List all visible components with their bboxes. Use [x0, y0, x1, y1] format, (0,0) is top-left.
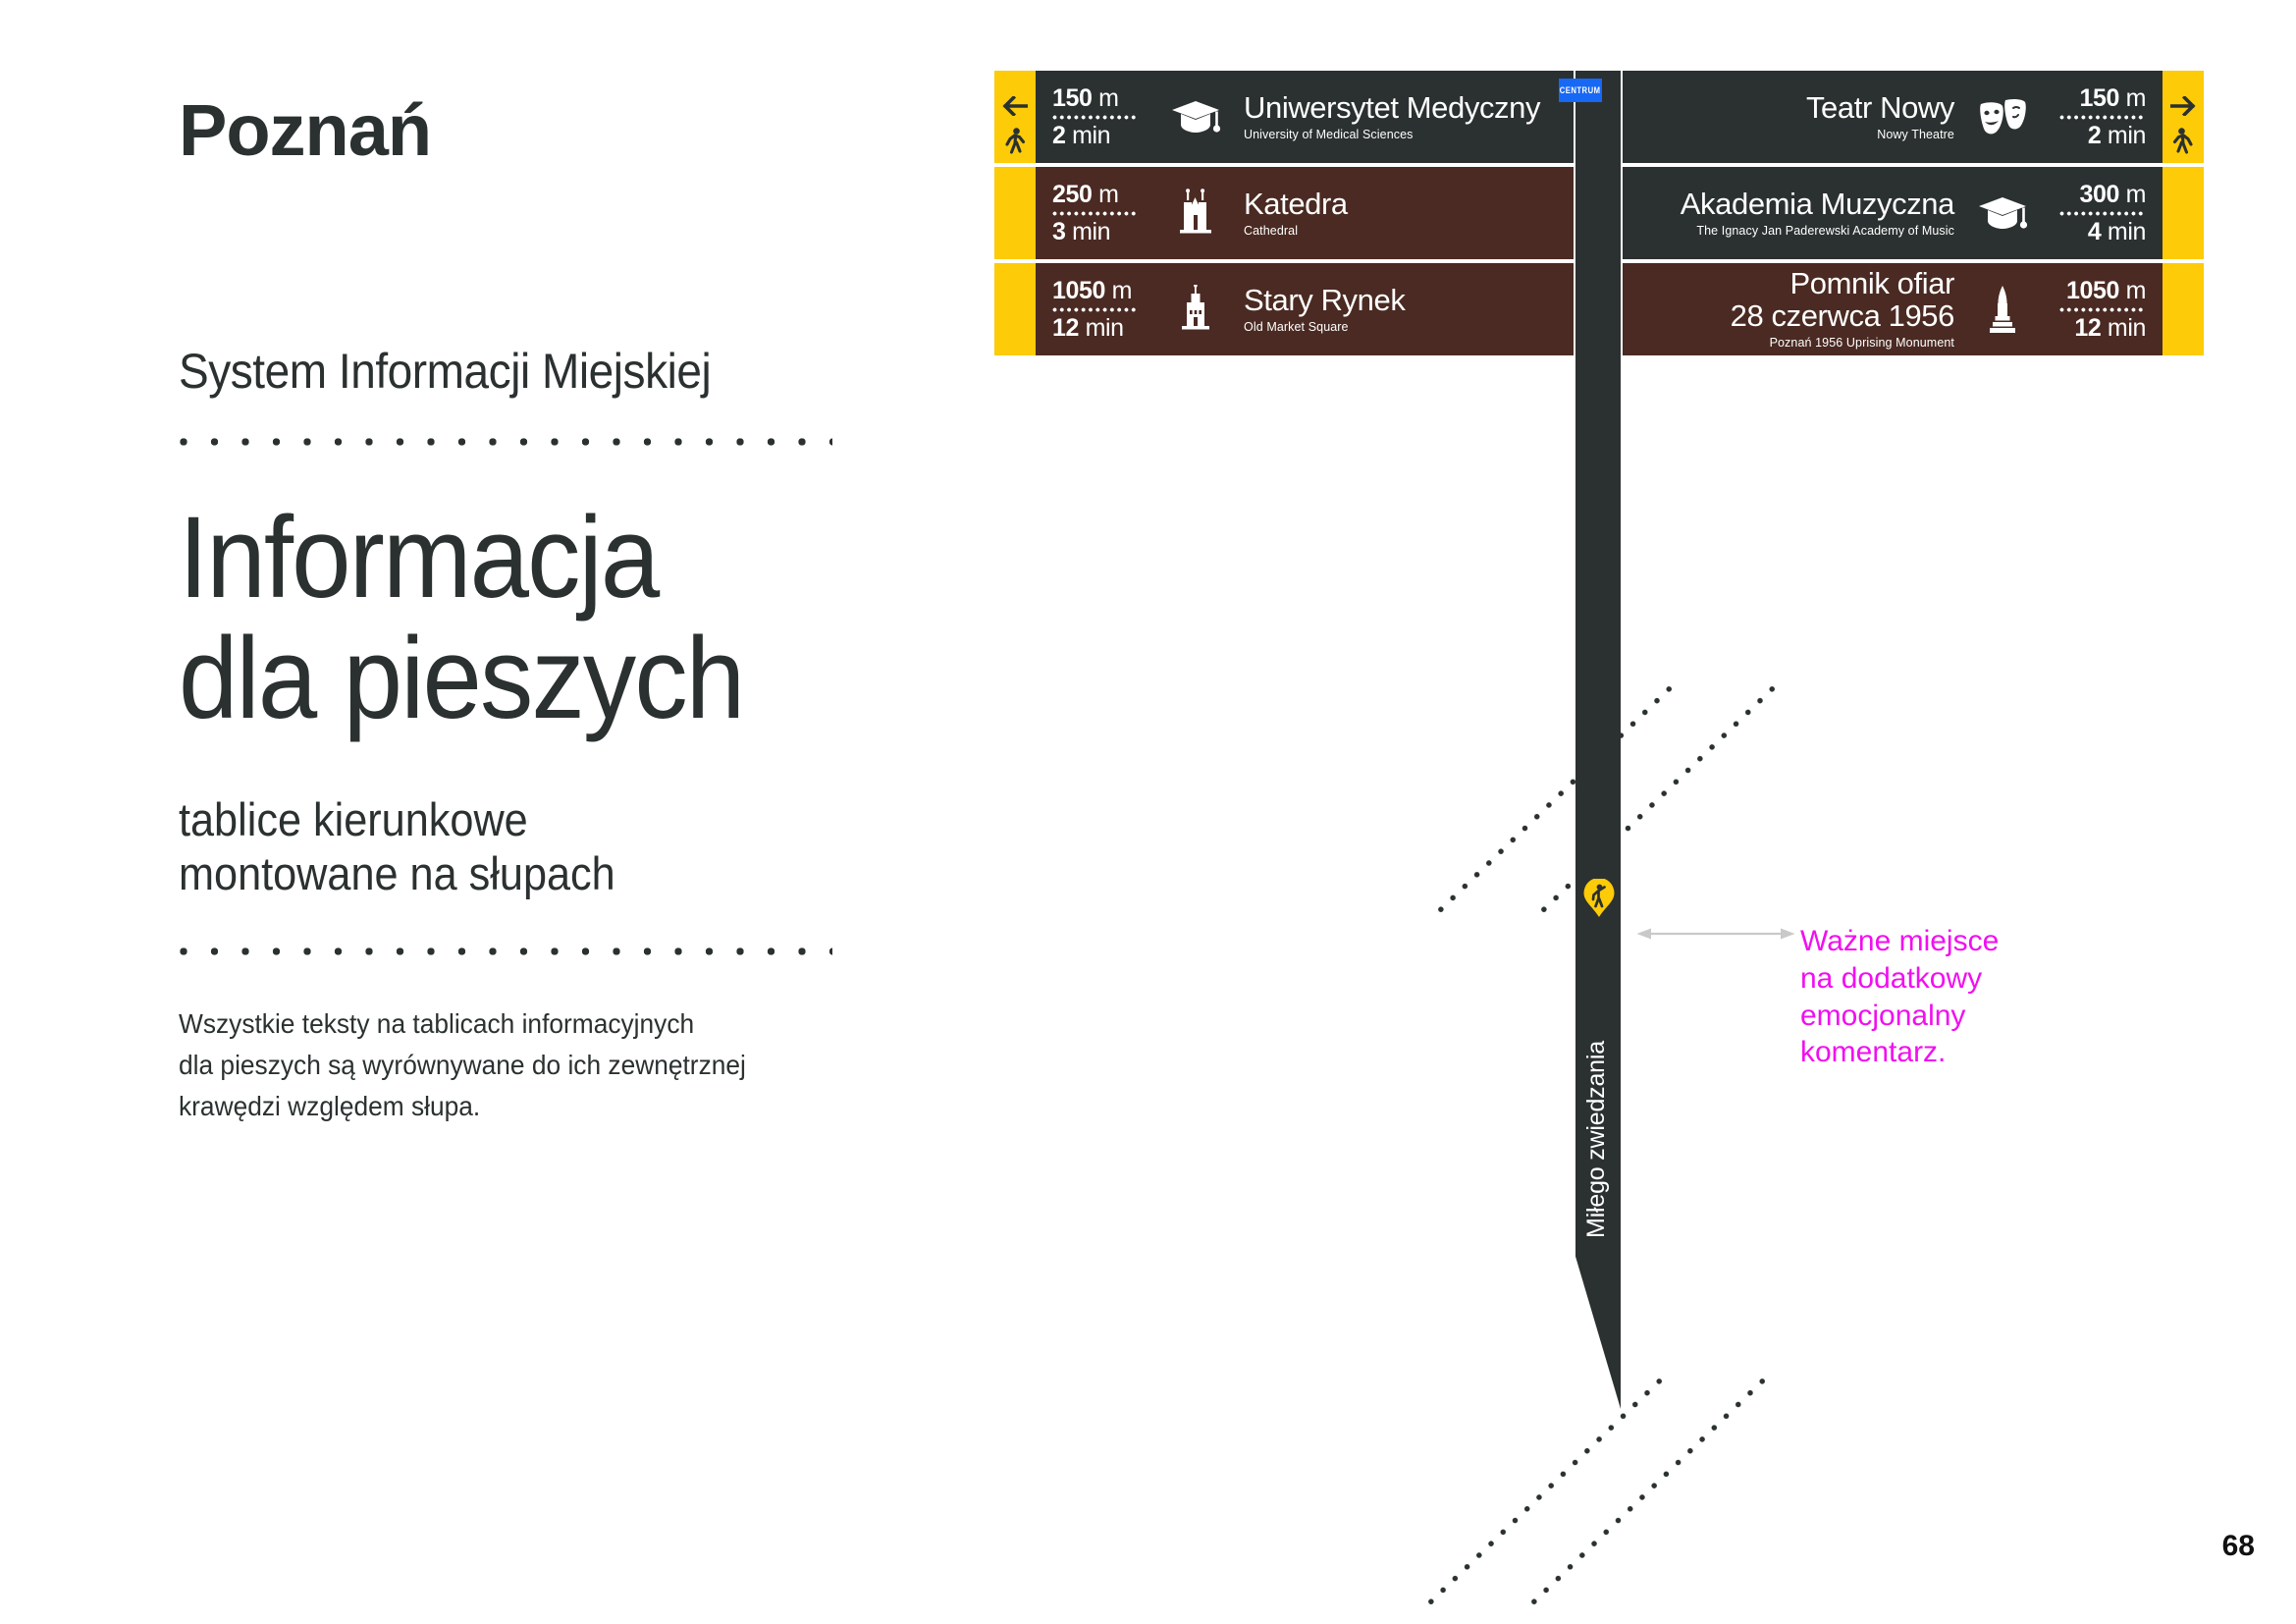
distance-value: 300 m — [2080, 183, 2147, 207]
body-copy: Wszystkie teksty na tablicach informacyj… — [179, 1003, 926, 1127]
lead-text: tablice kierunkowe montowane na słupach — [179, 793, 910, 901]
arrow-left-icon — [1002, 96, 1028, 121]
sign-row-content: 1050 m 12 min — [1036, 263, 1574, 355]
dotted-rule-bottom — [179, 947, 832, 956]
destination-name-en: Nowy Theatre — [1877, 129, 1954, 142]
distance-time-block: 150 m 2 min — [2045, 86, 2163, 148]
annotation-line-3: emocjonalny — [1800, 998, 2056, 1035]
pedestrian-pin-icon — [1582, 879, 1616, 918]
sign-row[interactable]: Teatr Nowy Nowy Theatre — [1623, 71, 2204, 163]
pedestrian-walking-icon — [2172, 128, 2194, 160]
page-number: 68 — [2222, 1530, 2255, 1563]
sign-row-content: 150 m 2 min Uniwersytet Medyczny — [1036, 71, 1574, 163]
centrum-tab[interactable]: CENTRUM — [1559, 79, 1602, 102]
cathedral-icon — [1153, 189, 1238, 238]
page-canvas: Poznań System Informacji Miejskiej Infor… — [0, 0, 2296, 1624]
annotation-line-4: komentarz. — [1800, 1034, 2056, 1071]
time-value: 2 min — [2088, 124, 2146, 148]
distance-time-block: 300 m 4 min — [2045, 183, 2163, 244]
centrum-tab-label: CENTRUM — [1560, 85, 1601, 95]
time-value: 12 min — [2074, 316, 2146, 341]
destination-name-en: Poznań 1956 Uprising Monument — [1770, 337, 1954, 351]
time-value: 12 min — [1052, 316, 1124, 341]
body-copy-line-3: krawędzi względem słupa. — [179, 1086, 926, 1127]
dotted-separator — [1052, 307, 1139, 312]
dotted-separator — [2059, 307, 2146, 312]
destination-name-pl: Uniwersytet Medyczny — [1244, 92, 1540, 124]
lead-line-2: montowane na słupach — [179, 847, 910, 901]
direction-chip-left — [994, 71, 1036, 163]
body-copy-line-2: dla pieszych są wyrównywane do ich zewnę… — [179, 1045, 926, 1086]
town-hall-icon — [1153, 285, 1238, 334]
arrow-right-icon — [2170, 96, 2196, 121]
distance-value: 150 m — [1052, 86, 1119, 111]
editorial-column: Poznań System Informacji Miejskiej Infor… — [179, 94, 974, 1127]
left-sign-panel: 150 m 2 min Uniwersytet Medyczny — [994, 71, 1574, 355]
graduation-cap-icon — [1153, 95, 1238, 138]
sign-row-content: Akademia Muzyczna The Ignacy Jan Paderew… — [1623, 167, 2163, 259]
dotted-separator — [2059, 211, 2146, 216]
theatre-masks-icon — [1960, 97, 2045, 136]
distance-value: 250 m — [1052, 183, 1119, 207]
sign-row[interactable]: Akademia Muzyczna The Ignacy Jan Paderew… — [1623, 167, 2204, 259]
sign-row-content: 250 m 3 min — [1036, 167, 1574, 259]
distance-time-block: 1050 m 12 min — [2045, 279, 2163, 341]
distance-time-block: 150 m 2 min — [1036, 86, 1153, 148]
dotted-separator — [2059, 115, 2146, 120]
time-value: 3 min — [1052, 220, 1110, 244]
section-heading-line-1: Informacja — [179, 498, 910, 620]
section-heading: Informacja dla pieszych — [179, 498, 910, 741]
pole-vertical-label-text: Miłego zwiedzania — [1582, 1041, 1611, 1238]
destination-name-en: Old Market Square — [1244, 321, 1349, 335]
destination-name-pl: Akademia Muzyczna — [1681, 189, 1954, 220]
dotted-separator — [1052, 211, 1139, 216]
destination-names: Stary Rynek Old Market Square — [1238, 285, 1574, 335]
destination-name-pl-line-2: 28 czerwca 1956 — [1731, 300, 1954, 332]
direction-chip-left — [994, 263, 1036, 355]
distance-time-block: 250 m 3 min — [1036, 183, 1153, 244]
double-headed-arrow-icon — [1636, 927, 1795, 941]
destination-name-en: University of Medical Sciences — [1244, 129, 1414, 142]
destination-names: Katedra Cathedral — [1238, 189, 1574, 239]
destination-name-en: The Ignacy Jan Paderewski Academy of Mus… — [1696, 225, 1954, 239]
sign-row[interactable]: 250 m 3 min — [994, 167, 1574, 259]
sign-row[interactable]: 150 m 2 min Uniwersytet Medyczny — [994, 71, 1574, 163]
distance-value: 1050 m — [1052, 279, 1132, 303]
destination-name-en: Cathedral — [1244, 225, 1298, 239]
dotted-separator — [1052, 115, 1139, 120]
pole-vertical-label: Miłego zwiedzania — [1574, 938, 1619, 1340]
dotted-rule-top — [179, 437, 832, 447]
right-sign-panel: Teatr Nowy Nowy Theatre — [1623, 71, 2204, 355]
destination-name-pl: Stary Rynek — [1244, 285, 1405, 316]
distance-value: 1050 m — [2066, 279, 2146, 303]
pedestrian-walking-icon — [1004, 128, 1026, 160]
direction-chip-right — [2163, 263, 2204, 355]
distance-time-block: 1050 m 12 min — [1036, 279, 1153, 341]
annotation-line-1: Ważne miejsce — [1800, 923, 2056, 960]
obelisk-monument-icon — [1960, 285, 2045, 334]
time-value: 4 min — [2088, 220, 2146, 244]
section-heading-line-2: dla pieszych — [179, 619, 910, 740]
destination-name-pl: Teatr Nowy — [1806, 92, 1954, 124]
direction-chip-left — [994, 167, 1036, 259]
destination-names: Teatr Nowy Nowy Theatre — [1623, 92, 1960, 142]
body-copy-line-1: Wszystkie teksty na tablicach informacyj… — [179, 1003, 926, 1045]
sign-row[interactable]: Pomnik ofiar 28 czerwca 1956 Poznań 1956… — [1623, 263, 2204, 355]
lead-line-1: tablice kierunkowe — [179, 793, 910, 847]
destination-names: Uniwersytet Medyczny University of Medic… — [1238, 92, 1574, 142]
graduation-cap-icon — [1960, 191, 2045, 235]
distance-value: 150 m — [2080, 86, 2147, 111]
system-subtitle: System Informacji Miejskiej — [179, 346, 910, 398]
sign-row-content: Pomnik ofiar 28 czerwca 1956 Poznań 1956… — [1623, 263, 2163, 355]
sign-row-content: Teatr Nowy Nowy Theatre — [1623, 71, 2163, 163]
destination-name-pl: Katedra — [1244, 189, 1348, 220]
annotation-text: Ważne miejsce na dodatkowy emocjonalny k… — [1800, 923, 2056, 1071]
direction-chip-right — [2163, 167, 2204, 259]
sign-row[interactable]: 1050 m 12 min — [994, 263, 1574, 355]
destination-names: Pomnik ofiar 28 czerwca 1956 Poznań 1956… — [1623, 268, 1960, 350]
annotation-line-2: na dodatkowy — [1800, 960, 2056, 998]
destination-name-pl-line-1: Pomnik ofiar — [1790, 268, 1955, 299]
time-value: 2 min — [1052, 124, 1110, 148]
direction-chip-right — [2163, 71, 2204, 163]
destination-names: Akademia Muzyczna The Ignacy Jan Paderew… — [1623, 189, 1960, 239]
page-title: Poznań — [179, 94, 974, 167]
